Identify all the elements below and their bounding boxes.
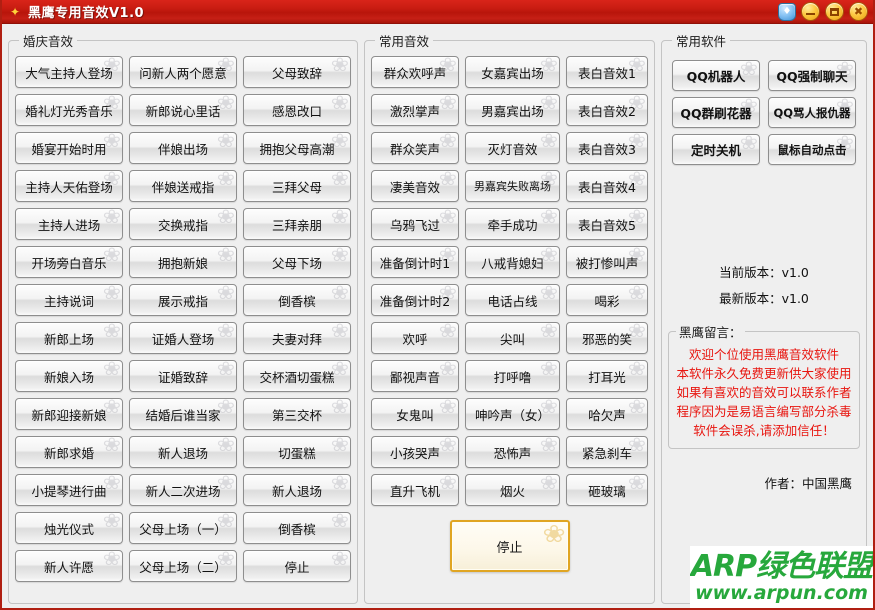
sound-button[interactable]: 群众欢呼声: [371, 56, 459, 88]
sound-button[interactable]: 倒香槟: [243, 284, 351, 316]
watermark-url: www.arpun.com: [695, 584, 868, 603]
latest-version-label: 最新版本：v1.0: [668, 286, 860, 312]
sound-button-label: 邪恶的笑: [582, 329, 632, 348]
version-info: 当前版本：v1.0 最新版本：v1.0: [668, 260, 860, 312]
sound-button-label: 证婚人登场: [152, 329, 215, 348]
sound-button[interactable]: 新郎说心里话: [129, 94, 237, 126]
sound-button-label: 新郎迎接新娘: [31, 405, 106, 424]
sound-button[interactable]: 主持人进场: [15, 208, 123, 240]
sound-button-label: 新人退场: [158, 443, 208, 462]
sound-button-label: 大气主持人登场: [25, 63, 113, 82]
sound-button-label: 新人二次进场: [145, 481, 220, 500]
sound-button-label: 烟火: [500, 481, 525, 500]
software-button-grid: QQ机器人 QQ群刷花器 定时关机 QQ强制聊天 QQ骂人报仇器 鼠标自动点击: [668, 54, 860, 165]
sound-button[interactable]: 结婚后谁当家: [129, 398, 237, 430]
sound-button-label: 鄙视声音: [390, 367, 440, 386]
sound-button[interactable]: 拥抱新娘: [129, 246, 237, 278]
sound-button[interactable]: 证婚人登场: [129, 322, 237, 354]
message-content: 欢迎个位使用黑鹰音效软件 本软件永久免费更新供大家使用 如果有喜欢的音效可以联系…: [674, 345, 854, 440]
sound-button-label: 倒香槟: [278, 519, 316, 538]
sound-button-label: 表白音效4: [578, 177, 636, 196]
sound-button-label: 父母下场: [272, 253, 322, 272]
message-line: 程序因为是易语言编写部分杀毒: [674, 402, 854, 421]
sound-button[interactable]: 主持说词: [15, 284, 123, 316]
sound-button-label: 开场旁白音乐: [31, 253, 106, 272]
close-button[interactable]: ✖: [849, 2, 868, 21]
stop-button-wedding[interactable]: 停止: [243, 550, 351, 582]
sound-button-label: 小孩哭声: [390, 443, 440, 462]
sound-button[interactable]: 小孩哭声: [371, 436, 459, 468]
sound-button-label: 新人许愿: [44, 557, 94, 576]
software-button-label: 定时关机: [691, 140, 741, 159]
sound-button[interactable]: 电话占线: [465, 284, 560, 316]
sound-button-label: 恐怖声: [494, 443, 532, 462]
sound-button[interactable]: 新人二次进场: [129, 474, 237, 506]
sound-button[interactable]: 准备倒计时2: [371, 284, 459, 316]
sound-button-label: 新郎求婚: [44, 443, 94, 462]
sound-button-label: 父母致辞: [272, 63, 322, 82]
panel-common-sounds: 常用音效 群众欢呼声 激烈掌声 群众笑声 凄美音效 乌鸦飞过 准备倒计时1 准备…: [364, 31, 655, 604]
software-button-label: QQ群刷花器: [680, 103, 751, 122]
sound-button[interactable]: 新人退场: [129, 436, 237, 468]
sound-button[interactable]: 女鬼叫: [371, 398, 459, 430]
sound-button[interactable]: 八戒背媳妇: [465, 246, 560, 278]
software-button-label: QQ机器人: [687, 66, 746, 85]
sound-button-label: 夫妻对拜: [272, 329, 322, 348]
sound-button[interactable]: 切蛋糕: [243, 436, 351, 468]
sound-button-label: 女嘉宾出场: [481, 63, 544, 82]
sound-button[interactable]: 激烈掌声: [371, 94, 459, 126]
sound-button[interactable]: 展示戒指: [129, 284, 237, 316]
author-label: 作者：中国黑鹰: [668, 473, 860, 492]
sound-button-label: 交换戒指: [158, 215, 208, 234]
sound-button[interactable]: 表白音效3: [566, 132, 648, 164]
sound-button[interactable]: 恐怖声: [465, 436, 560, 468]
sound-button-label: 群众笑声: [390, 139, 440, 158]
common-column-2: 女嘉宾出场 男嘉宾出场 灭灯音效 男嘉宾失败离场 牵手成功 八戒背媳妇 电话占线…: [465, 56, 560, 506]
sound-button-label: 父母上场（一）: [139, 519, 227, 538]
sound-button[interactable]: 新人退场: [243, 474, 351, 506]
sound-button[interactable]: 父母致辞: [243, 56, 351, 88]
sound-button-label: 结婚后谁当家: [145, 405, 220, 424]
sound-button[interactable]: 伴娘出场: [129, 132, 237, 164]
common-column-3: 表白音效1 表白音效2 表白音效3 表白音效4 表白音效5 被打惨叫声 喝彩 邪…: [566, 56, 648, 506]
sound-button[interactable]: 父母下场: [243, 246, 351, 278]
sound-button-label: 主持人进场: [38, 215, 101, 234]
sound-button-label: 男嘉宾失败离场: [474, 178, 551, 194]
sound-button[interactable]: 夫妻对拜: [243, 322, 351, 354]
sound-button[interactable]: 交换戒指: [129, 208, 237, 240]
sound-button-label: 直升飞机: [390, 481, 440, 500]
watermark-logo: ARP绿色联盟 www.arpun.com: [690, 546, 873, 608]
sound-button[interactable]: 哈欠声: [566, 398, 648, 430]
stop-button-label: 停止: [284, 557, 309, 576]
sound-button-label: 证婚致辞: [158, 367, 208, 386]
sound-button[interactable]: 问新人两个愿意: [129, 56, 237, 88]
sound-button-label: 男嘉宾出场: [481, 101, 544, 120]
sound-button-label: 展示戒指: [158, 291, 208, 310]
sound-button-label: 新人退场: [272, 481, 322, 500]
sound-button-label: 电话占线: [487, 291, 537, 310]
sound-button-label: 激烈掌声: [390, 101, 440, 120]
software-button-label: QQ强制聊天: [776, 66, 847, 85]
sound-button[interactable]: 砸玻璃: [566, 474, 648, 506]
sound-button-label: 伴娘出场: [158, 139, 208, 158]
sound-button[interactable]: 表白音效1: [566, 56, 648, 88]
sound-button[interactable]: 伴娘送戒指: [129, 170, 237, 202]
sound-button-label: 倒香槟: [278, 291, 316, 310]
window-title: 黑鹰专用音效V1.0: [28, 2, 144, 21]
sound-button-label: 三拜父母: [272, 177, 322, 196]
sound-button-label: 表白音效1: [578, 63, 636, 82]
sound-button-label: 新郎说心里话: [145, 101, 220, 120]
sound-button-label: 拥抱父母高潮: [259, 139, 334, 158]
sound-button-label: 婚宴开始时用: [31, 139, 106, 158]
sound-button[interactable]: 男嘉宾失败离场: [465, 170, 560, 202]
sound-button-label: 主持说词: [44, 291, 94, 310]
sound-button[interactable]: 主持人天佑登场: [15, 170, 123, 202]
sound-button-label: 表白音效5: [578, 215, 636, 234]
sound-button-label: 牵手成功: [487, 215, 537, 234]
panel-common-software: 常用软件 QQ机器人 QQ群刷花器 定时关机 QQ强制聊天 QQ骂人报仇器 鼠标…: [661, 31, 867, 604]
sound-button-label: 交杯酒切蛋糕: [259, 367, 334, 386]
sound-button-label: 新郎上场: [44, 329, 94, 348]
message-line: 欢迎个位使用黑鹰音效软件: [674, 345, 854, 364]
sound-button-label: 父母上场（二）: [139, 557, 227, 576]
sound-button-label: 被打惨叫声: [576, 253, 639, 272]
sound-button[interactable]: 喝彩: [566, 284, 648, 316]
sound-button-label: 拥抱新娘: [158, 253, 208, 272]
software-button[interactable]: QQ强制聊天: [768, 60, 856, 91]
stop-button-container: 停止: [371, 520, 648, 572]
sound-button[interactable]: 父母上场（二）: [129, 550, 237, 582]
sound-button[interactable]: 交杯酒切蛋糕: [243, 360, 351, 392]
wedding-column-1: 大气主持人登场 婚礼灯光秀音乐 婚宴开始时用 主持人天佑登场 主持人进场 开场旁…: [15, 56, 123, 582]
sound-button[interactable]: 倒香槟: [243, 512, 351, 544]
sound-button[interactable]: 婚礼灯光秀音乐: [15, 94, 123, 126]
sound-button-label: 灭灯音效: [487, 139, 537, 158]
message-line: 如果有喜欢的音效可以联系作者: [674, 383, 854, 402]
sound-button[interactable]: 开场旁白音乐: [15, 246, 123, 278]
sound-button[interactable]: 烛光仪式: [15, 512, 123, 544]
sound-button-label: 伴娘送戒指: [152, 177, 215, 196]
software-button[interactable]: QQ机器人: [672, 60, 760, 91]
wedding-button-grid: 大气主持人登场 婚礼灯光秀音乐 婚宴开始时用 主持人天佑登场 主持人进场 开场旁…: [15, 54, 351, 582]
software-button[interactable]: 鼠标自动点击: [768, 134, 856, 165]
sound-button-label: 打呼噜: [494, 367, 532, 386]
sound-button[interactable]: 新人许愿: [15, 550, 123, 582]
common-button-grid: 群众欢呼声 激烈掌声 群众笑声 凄美音效 乌鸦飞过 准备倒计时1 准备倒计时2 …: [371, 54, 648, 506]
sound-button[interactable]: 呻吟声（女）: [465, 398, 560, 430]
sound-button-label: 女鬼叫: [396, 405, 434, 424]
sound-button[interactable]: 感恩改口: [243, 94, 351, 126]
sound-button[interactable]: 大气主持人登场: [15, 56, 123, 88]
common-column-1: 群众欢呼声 激烈掌声 群众笑声 凄美音效 乌鸦飞过 准备倒计时1 准备倒计时2 …: [371, 56, 459, 506]
sound-button-label: 表白音效2: [578, 101, 636, 120]
sound-button[interactable]: 父母上场（一）: [129, 512, 237, 544]
software-button[interactable]: 定时关机: [672, 134, 760, 165]
panel-wedding-legend: 婚庆音效: [19, 31, 77, 50]
sound-button[interactable]: 小提琴进行曲: [15, 474, 123, 506]
software-button[interactable]: QQ群刷花器: [672, 97, 760, 128]
sound-button-label: 表白音效3: [578, 139, 636, 158]
sound-button[interactable]: 乌鸦飞过: [371, 208, 459, 240]
sound-button-label: 砸玻璃: [588, 481, 626, 500]
sound-button-label: 感恩改口: [272, 101, 322, 120]
maximize-button[interactable]: [825, 2, 844, 21]
workspace: 婚庆音效 大气主持人登场 婚礼灯光秀音乐 婚宴开始时用 主持人天佑登场 主持人进…: [2, 24, 873, 608]
sound-button-label: 尖叫: [500, 329, 525, 348]
sound-button-label: 乌鸦飞过: [390, 215, 440, 234]
sound-button-label: 凄美音效: [390, 177, 440, 196]
sound-button[interactable]: 邪恶的笑: [566, 322, 648, 354]
sound-button[interactable]: 被打惨叫声: [566, 246, 648, 278]
sound-button[interactable]: 凄美音效: [371, 170, 459, 202]
sound-button-label: 哈欠声: [588, 405, 626, 424]
window-controls: ♦ ✖: [778, 2, 868, 21]
sound-button[interactable]: 新郎迎接新娘: [15, 398, 123, 430]
sound-button-label: 呻吟声（女）: [475, 405, 550, 424]
sound-button[interactable]: 拥抱父母高潮: [243, 132, 351, 164]
sound-button[interactable]: 欢呼: [371, 322, 459, 354]
software-button-label: 鼠标自动点击: [778, 142, 847, 158]
sound-button-label: 主持人天佑登场: [25, 177, 113, 196]
panel-software-legend: 常用软件: [672, 31, 730, 50]
message-line: 软件会误杀,请添加信任！: [674, 421, 854, 440]
sound-button[interactable]: 直升飞机: [371, 474, 459, 506]
sound-button[interactable]: 准备倒计时1: [371, 246, 459, 278]
sound-button-label: 八戒背媳妇: [481, 253, 544, 272]
message-box: 黑鹰留言： 欢迎个位使用黑鹰音效软件 本软件永久免费更新供大家使用 如果有喜欢的…: [668, 322, 860, 449]
sound-button[interactable]: 烟火: [465, 474, 560, 506]
sound-button[interactable]: 新郎上场: [15, 322, 123, 354]
sound-button[interactable]: 婚宴开始时用: [15, 132, 123, 164]
sound-button[interactable]: 打耳光: [566, 360, 648, 392]
sound-button-label: 第三交杯: [272, 405, 322, 424]
sound-button[interactable]: 证婚致辞: [129, 360, 237, 392]
skin-button[interactable]: ♦: [778, 3, 796, 21]
message-line: 本软件永久免费更新供大家使用: [674, 364, 854, 383]
software-column-2: QQ强制聊天 QQ骂人报仇器 鼠标自动点击: [768, 60, 856, 165]
wedding-column-2: 问新人两个愿意 新郎说心里话 伴娘出场 伴娘送戒指 交换戒指 拥抱新娘 展示戒指…: [129, 56, 237, 582]
sound-button-label: 烛光仪式: [44, 519, 94, 538]
panel-wedding-sounds: 婚庆音效 大气主持人登场 婚礼灯光秀音乐 婚宴开始时用 主持人天佑登场 主持人进…: [8, 31, 358, 604]
software-column-1: QQ机器人 QQ群刷花器 定时关机: [672, 60, 760, 165]
sound-button[interactable]: 新娘入场: [15, 360, 123, 392]
sound-button-label: 婚礼灯光秀音乐: [25, 101, 113, 120]
sound-button-label: 三拜亲朋: [272, 215, 322, 234]
sound-button-label: 问新人两个愿意: [139, 63, 227, 82]
sound-button[interactable]: 男嘉宾出场: [465, 94, 560, 126]
sound-button[interactable]: 表白音效4: [566, 170, 648, 202]
watermark-title: ARP绿色联盟: [691, 552, 872, 582]
sound-button[interactable]: 打呼噜: [465, 360, 560, 392]
sound-button[interactable]: 三拜亲朋: [243, 208, 351, 240]
sound-button-label: 小提琴进行曲: [31, 481, 106, 500]
stop-button[interactable]: 停止: [450, 520, 570, 572]
sound-button[interactable]: 尖叫: [465, 322, 560, 354]
sound-button-label: 准备倒计时1: [380, 253, 450, 272]
sound-button[interactable]: 牵手成功: [465, 208, 560, 240]
minimize-button[interactable]: [801, 2, 820, 21]
sound-button-label: 准备倒计时2: [380, 291, 450, 310]
sound-button-label: 打耳光: [588, 367, 626, 386]
sound-button[interactable]: 鄙视声音: [371, 360, 459, 392]
sound-button[interactable]: 新郎求婚: [15, 436, 123, 468]
software-button[interactable]: QQ骂人报仇器: [768, 97, 856, 128]
sound-button[interactable]: 表白音效5: [566, 208, 648, 240]
panel-common-legend: 常用音效: [375, 31, 433, 50]
sound-button-label: 切蛋糕: [278, 443, 316, 462]
sound-button-label: 紧急刹车: [582, 443, 632, 462]
sound-button[interactable]: 紧急刹车: [566, 436, 648, 468]
app-logo-icon: ✦: [8, 5, 22, 19]
title-bar: ✦ 黑鹰专用音效V1.0 ♦ ✖: [2, 0, 873, 24]
software-button-label: QQ骂人报仇器: [773, 105, 850, 121]
message-legend: 黑鹰留言：: [676, 322, 745, 341]
sound-button[interactable]: 女嘉宾出场: [465, 56, 560, 88]
sound-button-label: 喝彩: [594, 291, 619, 310]
sound-button[interactable]: 表白音效2: [566, 94, 648, 126]
wedding-column-3: 父母致辞 感恩改口 拥抱父母高潮 三拜父母 三拜亲朋 父母下场 倒香槟 夫妻对拜…: [243, 56, 351, 582]
sound-button[interactable]: 三拜父母: [243, 170, 351, 202]
sound-button[interactable]: 灭灯音效: [465, 132, 560, 164]
sound-button[interactable]: 群众笑声: [371, 132, 459, 164]
current-version-label: 当前版本：v1.0: [668, 260, 860, 286]
sound-button-label: 群众欢呼声: [384, 63, 447, 82]
sound-button[interactable]: 第三交杯: [243, 398, 351, 430]
sound-button-label: 欢呼: [402, 329, 427, 348]
stop-button-label: 停止: [496, 537, 522, 556]
sound-button-label: 新娘入场: [44, 367, 94, 386]
